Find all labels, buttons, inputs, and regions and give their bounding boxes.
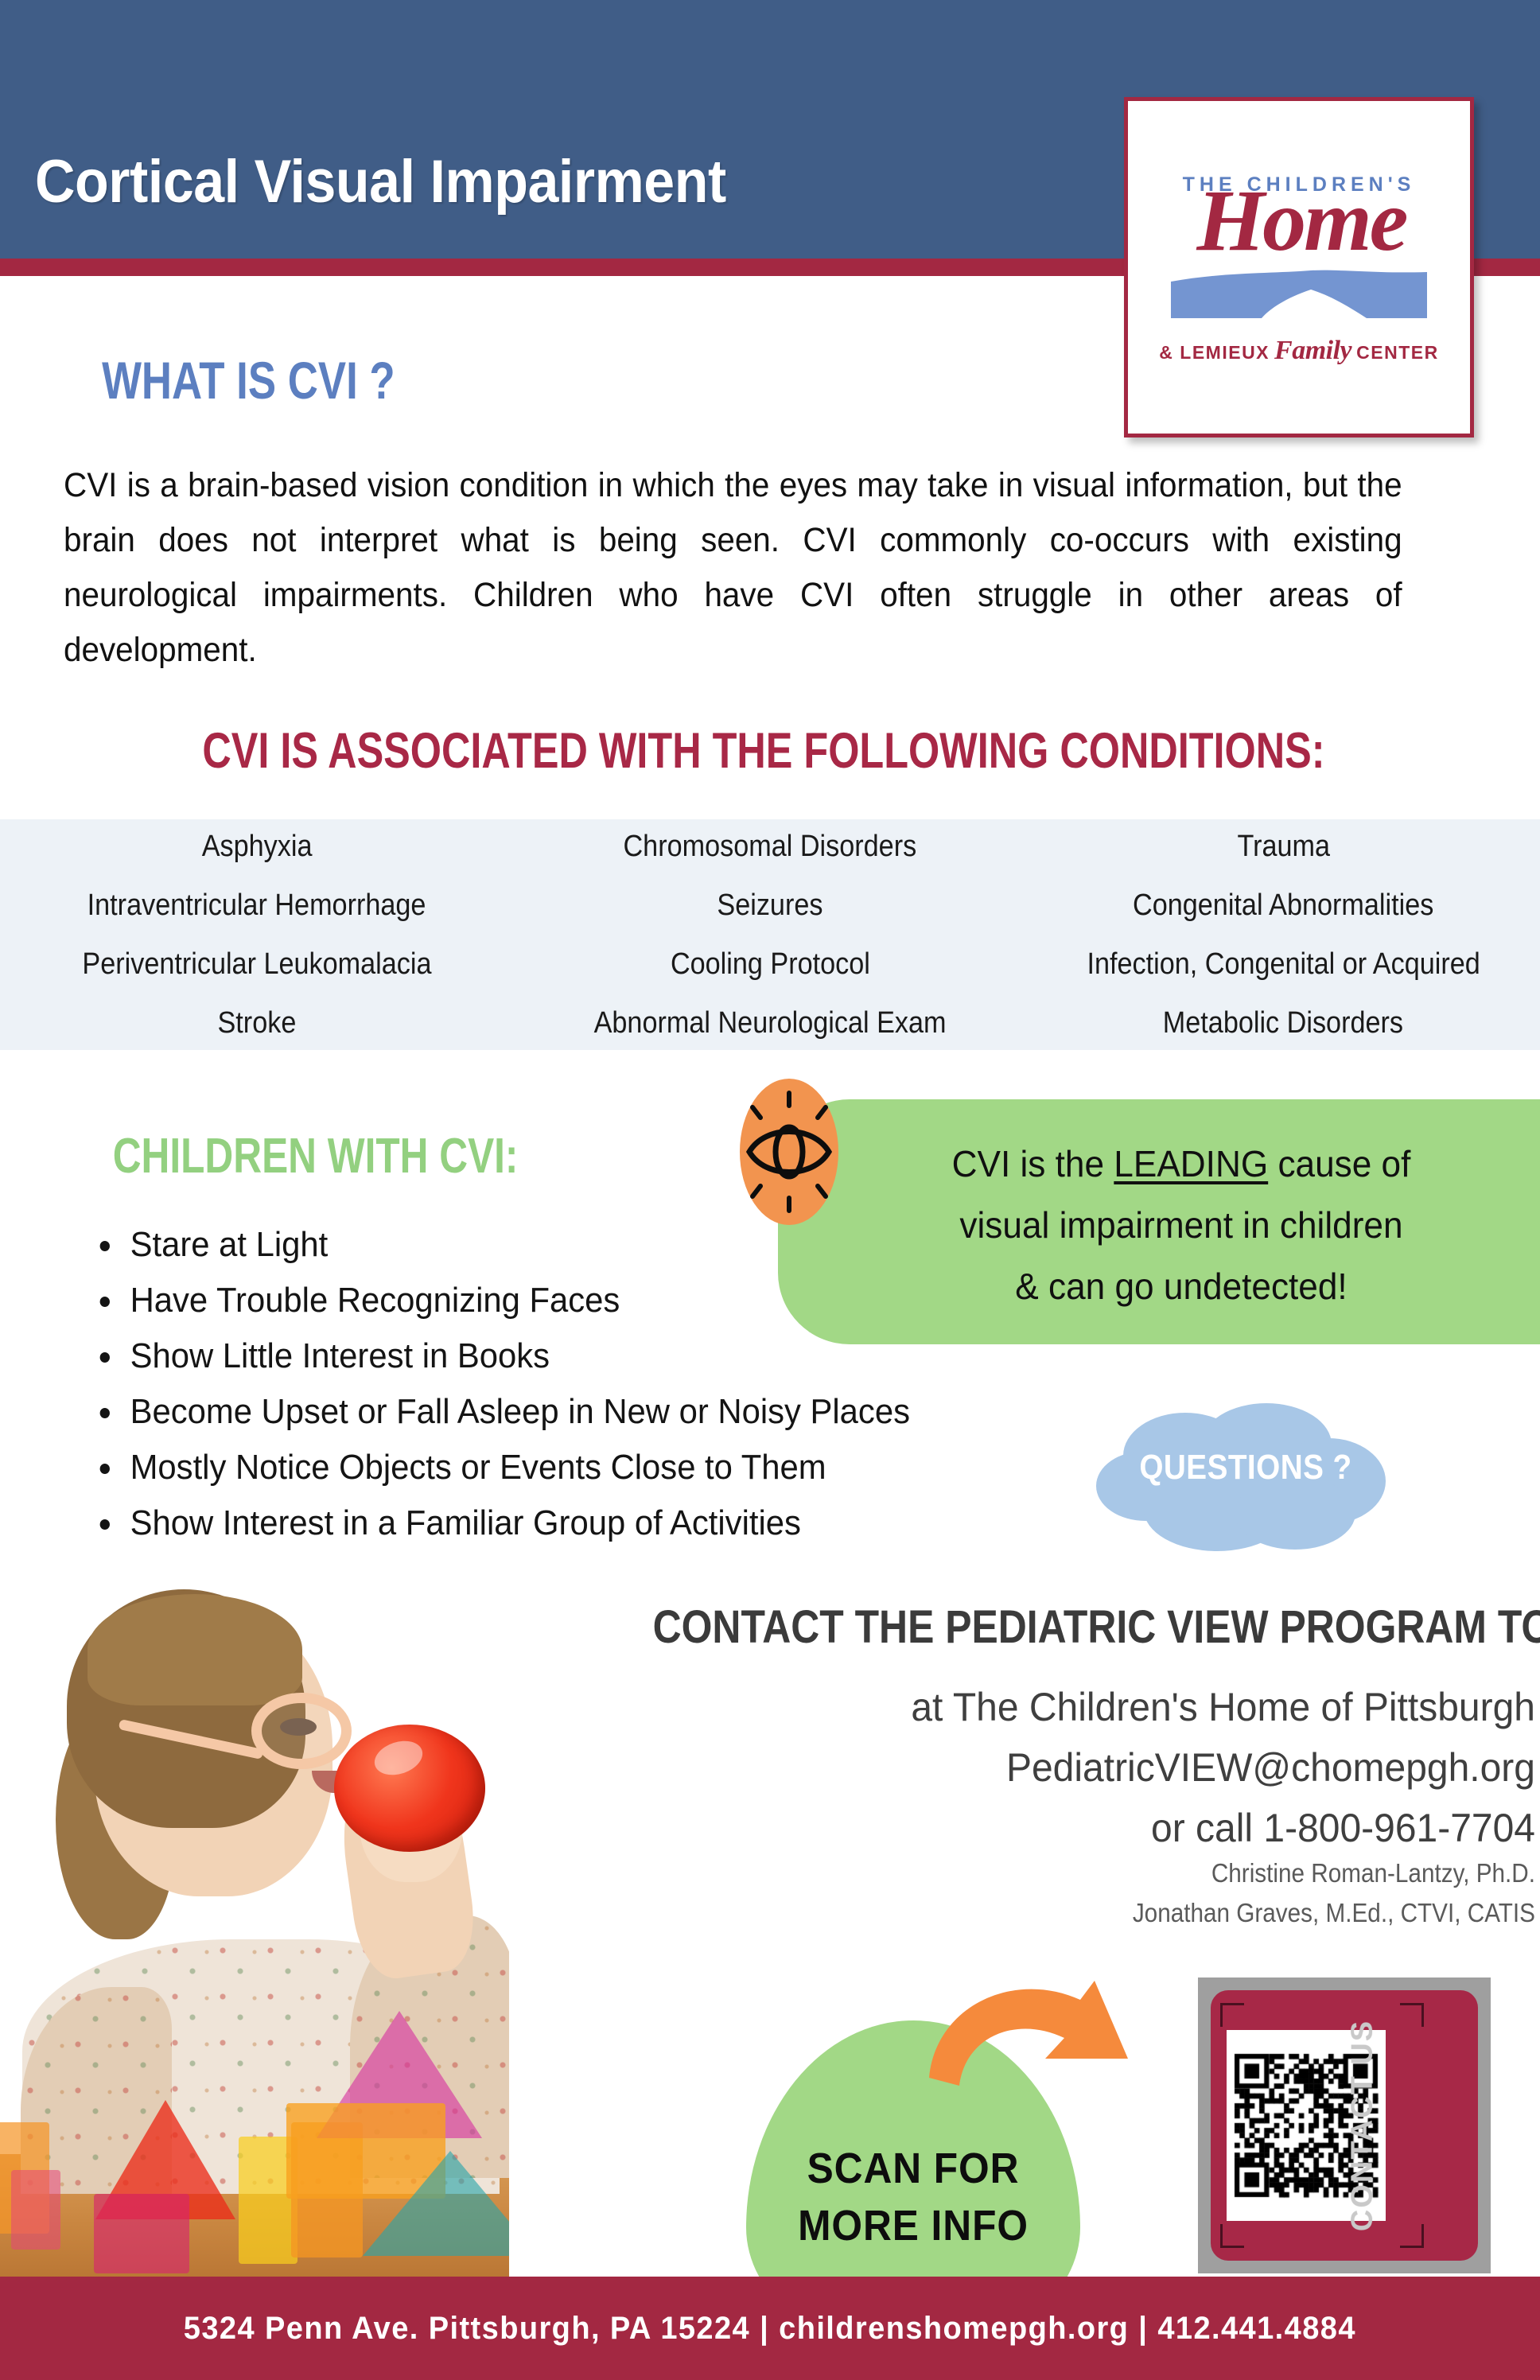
list-item: Mostly Notice Objects or Events Close to… bbox=[94, 1440, 986, 1495]
logo-swoosh-icon bbox=[1168, 267, 1430, 328]
photo-block bbox=[94, 2194, 189, 2273]
section-heading-what-is-cvi: WHAT IS CVI ? bbox=[102, 350, 395, 410]
conditions-column-2: Chromosomal Disorders Seizures Cooling P… bbox=[513, 819, 1026, 1050]
contact-organization: at The Children's Home of Pittsburgh bbox=[596, 1677, 1535, 1737]
footer-bar: 5324 Penn Ave. Pittsburgh, PA 15224 | ch… bbox=[0, 2277, 1540, 2380]
contact-phone[interactable]: or call 1-800-961-7704 bbox=[596, 1798, 1535, 1858]
list-item: Become Upset or Fall Asleep in New or No… bbox=[94, 1384, 986, 1440]
condition-item: Abnormal Neurological Exam bbox=[594, 996, 947, 1050]
condition-item: Periventricular Leukomalacia bbox=[82, 937, 431, 991]
callout-line3: & can go undetected! bbox=[1015, 1266, 1347, 1307]
conditions-band: Asphyxia Intraventricular Hemorrhage Per… bbox=[0, 819, 1540, 1050]
child-with-toys-photo bbox=[0, 1565, 509, 2281]
contact-details: at The Children's Home of Pittsburgh Ped… bbox=[596, 1677, 1535, 1858]
list-item: Have Trouble Recognizing Faces bbox=[94, 1273, 986, 1328]
questions-label: QUESTIONS ? bbox=[1109, 1448, 1383, 1487]
condition-item: Infection, Congenital or Acquired bbox=[1087, 937, 1480, 991]
curved-arrow-icon bbox=[924, 1958, 1179, 2149]
condition-item: Seizures bbox=[717, 878, 822, 932]
condition-item: Metabolic Disorders bbox=[1163, 996, 1403, 1050]
qr-card: CONTACT US bbox=[1211, 1990, 1478, 2261]
qr-code-panel[interactable]: CONTACT US bbox=[1198, 1977, 1491, 2273]
condition-item: Cooling Protocol bbox=[671, 937, 870, 991]
section-heading-associated-conditions: CVI IS ASSOCIATED WITH THE FOLLOWING CON… bbox=[202, 722, 1324, 780]
staff-name-2: Jonathan Graves, M.Ed., CTVI, CATIS bbox=[655, 1893, 1535, 1933]
conditions-column-1: Asphyxia Intraventricular Hemorrhage Per… bbox=[0, 819, 513, 1050]
section-heading-children-with-cvi: CHILDREN WITH CVI: bbox=[113, 1128, 519, 1184]
organization-logo: THE CHILDREN'S Home & LEMIEUX Family CEN… bbox=[1124, 97, 1474, 437]
photo-block bbox=[11, 2170, 60, 2250]
condition-item: Asphyxia bbox=[201, 819, 312, 873]
contact-staff-names: Christine Roman-Lantzy, Ph.D. Jonathan G… bbox=[655, 1853, 1535, 1933]
page-title: Cortical Visual Impairment bbox=[35, 147, 726, 216]
condition-item: Trauma bbox=[1237, 819, 1330, 873]
qr-corner-icon bbox=[1220, 2003, 1244, 2027]
flyer-page: Cortical Visual Impairment THE CHILDREN'… bbox=[0, 0, 1540, 2380]
logo-wordmark-home: Home bbox=[1197, 179, 1406, 262]
scan-line-2: MORE INFO bbox=[760, 2197, 1067, 2254]
scan-callout-text: SCAN FOR MORE INFO bbox=[760, 2140, 1067, 2254]
contact-email[interactable]: PediatricVIEW@chomepgh.org bbox=[596, 1737, 1535, 1798]
footer-text: 5324 Penn Ave. Pittsburgh, PA 15224 | ch… bbox=[184, 2311, 1356, 2347]
photo-hair-bangs bbox=[87, 1594, 302, 1705]
logo-family-script: Family bbox=[1274, 336, 1351, 366]
staff-name-1: Christine Roman-Lantzy, Ph.D. bbox=[655, 1853, 1535, 1893]
logo-center-text: CENTER bbox=[1356, 342, 1439, 364]
what-is-cvi-body: CVI is a brain-based vision condition in… bbox=[64, 458, 1402, 678]
qr-corner-icon bbox=[1220, 2224, 1244, 2248]
condition-item: Chromosomal Disorders bbox=[624, 819, 917, 873]
qr-corner-icon bbox=[1400, 2003, 1424, 2027]
list-item: Stare at Light bbox=[94, 1217, 986, 1273]
eye-icon bbox=[725, 1075, 853, 1228]
logo-line-lemieux: & LEMIEUX Family CENTER bbox=[1159, 336, 1438, 366]
logo-lemieux-text: & LEMIEUX bbox=[1159, 342, 1270, 364]
qr-contact-us-label: CONTACT US bbox=[1345, 2020, 1379, 2231]
contact-heading: CONTACT THE PEDIATRIC VIEW PROGRAM TODAY… bbox=[653, 1600, 1535, 1654]
condition-item: Intraventricular Hemorrhage bbox=[87, 878, 426, 932]
condition-item: Stroke bbox=[217, 996, 296, 1050]
callout-line1-post: cause of bbox=[1268, 1143, 1410, 1184]
condition-item: Congenital Abnormalities bbox=[1133, 878, 1433, 932]
callout-emphasis-leading: LEADING bbox=[1114, 1143, 1268, 1184]
conditions-column-3: Trauma Congenital Abnormalities Infectio… bbox=[1027, 819, 1540, 1050]
list-item: Show Little Interest in Books bbox=[94, 1328, 986, 1384]
callout-line1-pre: CVI is the bbox=[952, 1143, 1114, 1184]
photo-glasses bbox=[251, 1693, 352, 1769]
photo-block-triangle bbox=[363, 2151, 509, 2256]
children-symptoms-list: Stare at Light Have Trouble Recognizing … bbox=[94, 1217, 1032, 1551]
qr-corner-icon bbox=[1400, 2224, 1424, 2248]
list-item: Show Interest in a Familiar Group of Act… bbox=[94, 1495, 986, 1551]
